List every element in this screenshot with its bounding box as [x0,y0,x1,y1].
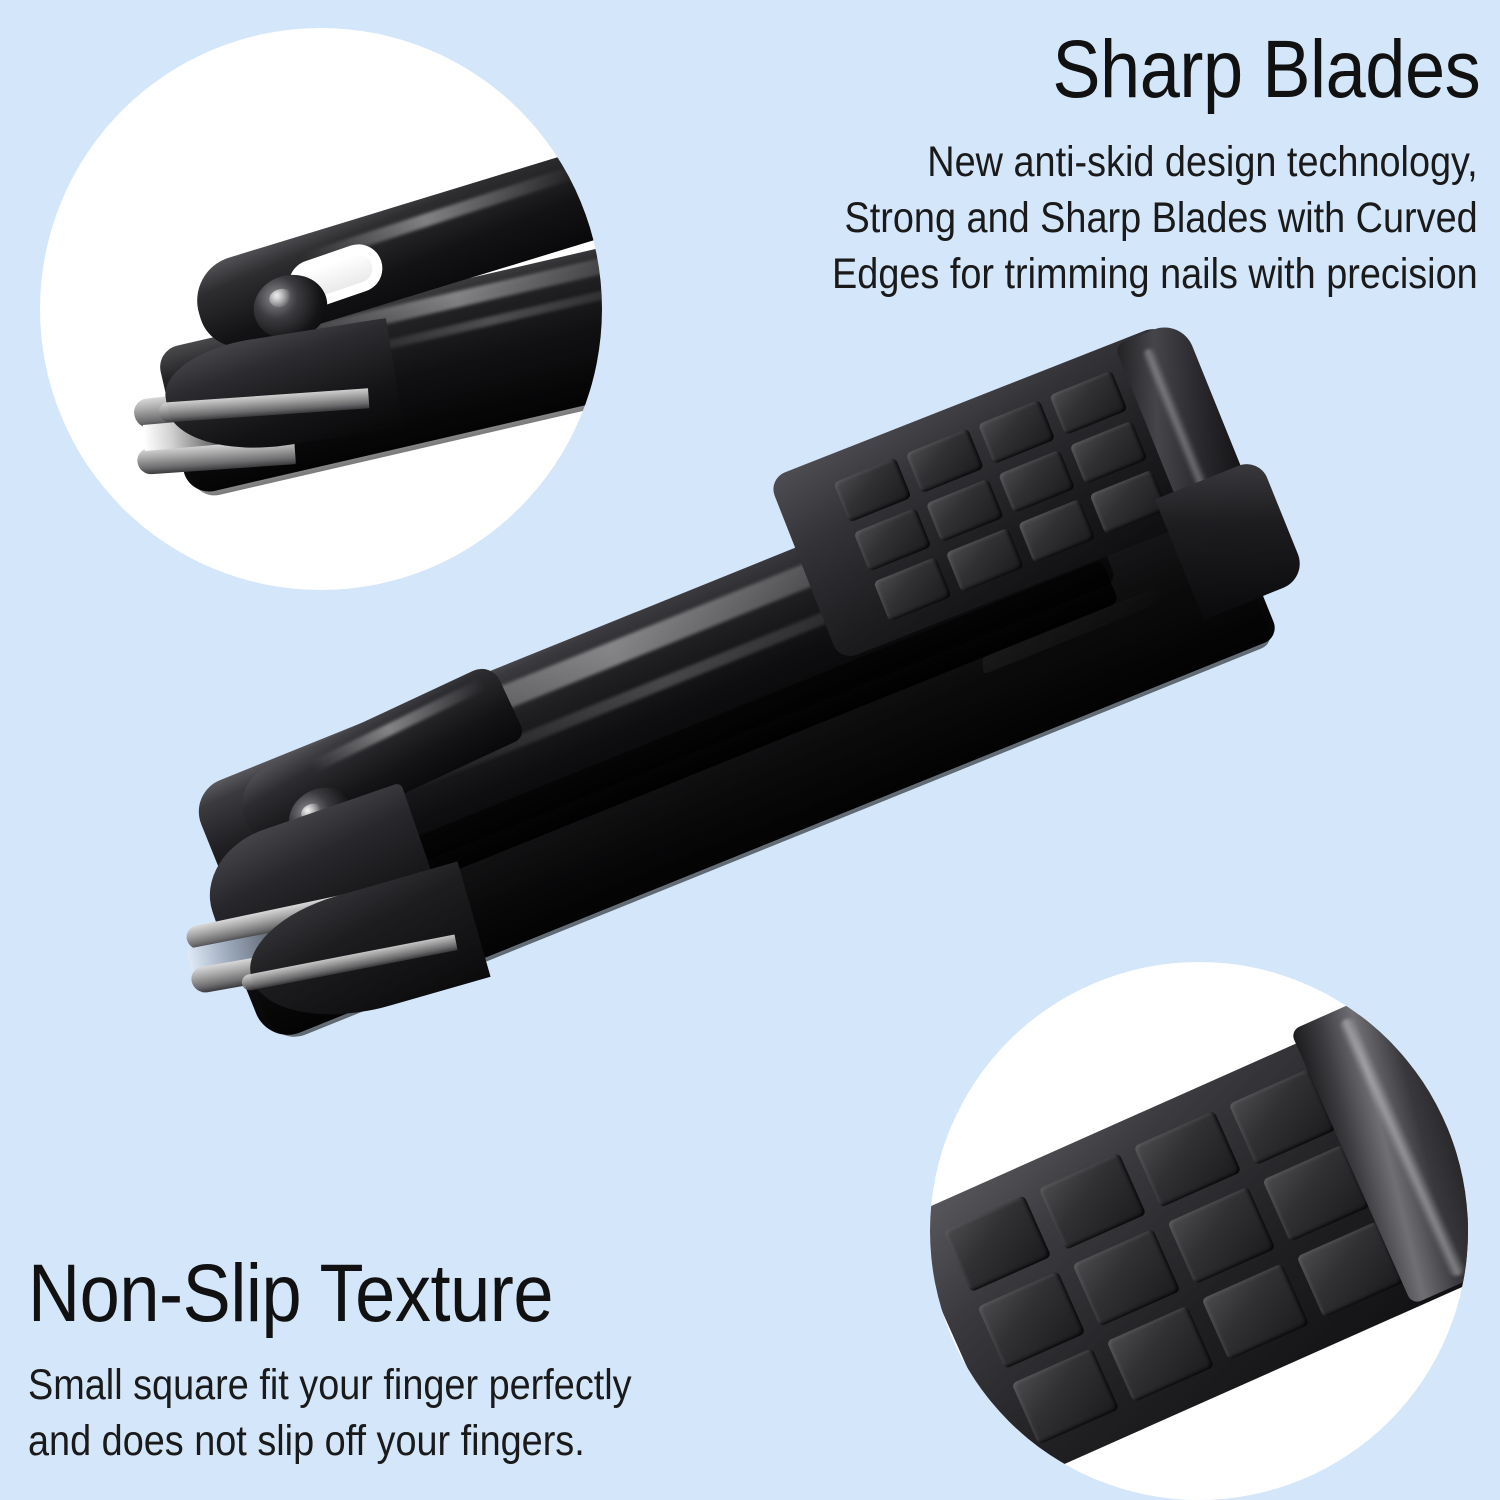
blade-closeup-inset [40,28,602,590]
non-slip-texture-heading: Non-Slip Texture [28,1254,553,1334]
grip-pad-closeup [930,974,1468,1500]
non-slip-texture-body: Small square fit your finger perfectly a… [28,1358,632,1470]
grip-cell [1168,1187,1276,1284]
sharp-blades-body: New anti-skid design technology, Strong … [832,135,1478,303]
sharp-blades-body-line: Edges for trimming nails with precision [832,247,1478,303]
sharp-blades-body-line: New anti-skid design technology, [832,135,1478,191]
grip-cell [1073,1229,1181,1326]
sharp-blades-body-line: Strong and Sharp Blades with Curved [832,191,1478,247]
clipper-head-closeup [104,112,602,544]
non-slip-body-line: Small square fit your finger perfectly [28,1358,632,1414]
product-feature-image: Sharp Blades New anti-skid design techno… [0,0,1500,1500]
texture-closeup-inset [930,962,1468,1500]
non-slip-body-line: and does not slip off your fingers. [28,1414,632,1470]
sharp-blades-heading: Sharp Blades [1052,30,1480,110]
